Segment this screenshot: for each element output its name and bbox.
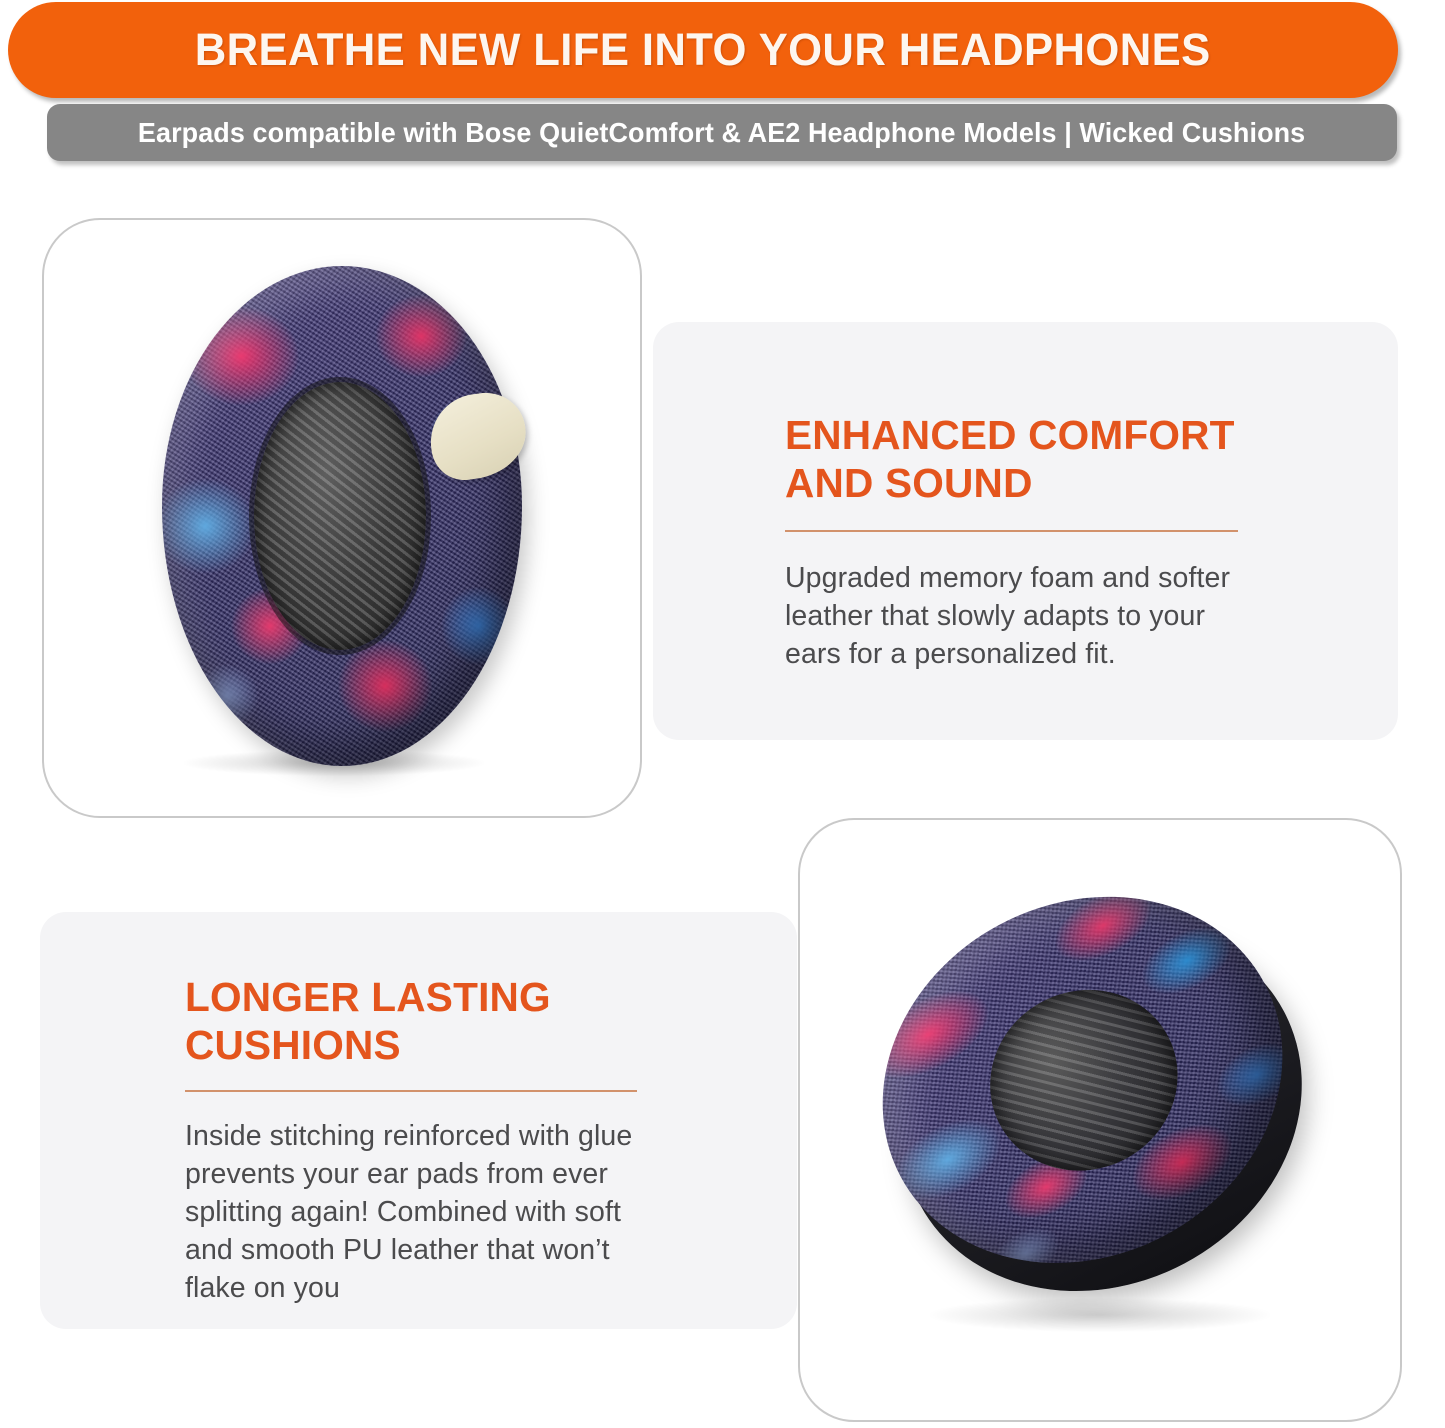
title-banner: BREATHE NEW LIFE INTO YOUR HEADPHONES xyxy=(8,2,1398,98)
earpad-angled-body xyxy=(818,824,1386,1392)
feature-panel-content: ENHANCED COMFORT AND SOUND Upgraded memo… xyxy=(785,412,1285,702)
subtitle-bar-text: Earpads compatible with Bose QuietComfor… xyxy=(138,117,1305,149)
feature-heading: LONGER LASTING CUSHIONS xyxy=(185,974,680,1070)
earpad-angled-photo xyxy=(800,820,1400,1420)
earpad-speaker-mesh xyxy=(254,382,426,650)
feature-panel-longer-lasting-cushions: LONGER LASTING CUSHIONS Inside stitching… xyxy=(40,912,797,1329)
feature-heading: ENHANCED COMFORT AND SOUND xyxy=(785,412,1280,508)
header-block: BREATHE NEW LIFE INTO YOUR HEADPHONES Ea… xyxy=(0,0,1445,170)
feature-body-text: Inside stitching reinforced with glue pr… xyxy=(185,1118,653,1307)
feature-body-text: Upgraded memory foam and softer leather … xyxy=(785,560,1255,674)
subtitle-bar: Earpads compatible with Bose QuietComfor… xyxy=(47,104,1397,161)
earpad-front-photo xyxy=(44,220,640,816)
product-photo-frame-front xyxy=(42,218,642,818)
feature-divider xyxy=(185,1090,637,1092)
feature-panel-content: LONGER LASTING CUSHIONS Inside stitching… xyxy=(185,974,685,1336)
product-photo-frame-angled xyxy=(798,818,1402,1422)
feature-panel-enhanced-comfort: ENHANCED COMFORT AND SOUND Upgraded memo… xyxy=(653,322,1398,740)
feature-divider xyxy=(785,530,1238,532)
title-banner-text: BREATHE NEW LIFE INTO YOUR HEADPHONES xyxy=(195,24,1211,76)
earpad-front-body xyxy=(162,266,522,766)
